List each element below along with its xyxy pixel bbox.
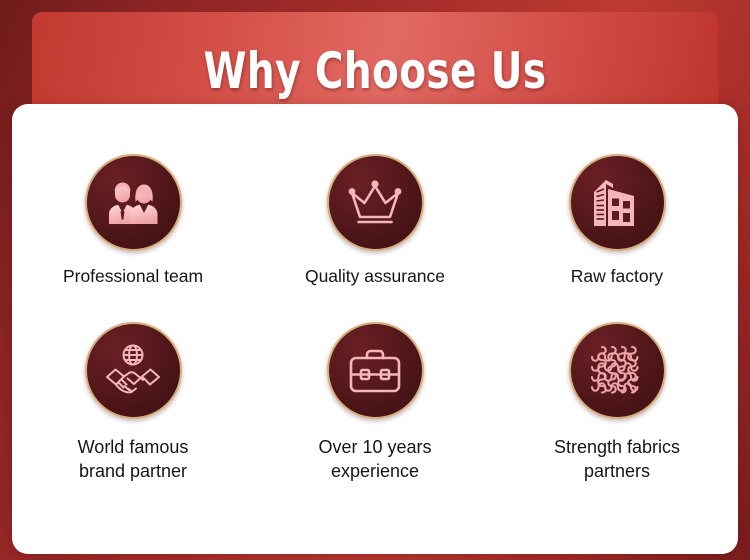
feature-item-professional-team[interactable]: Professional team <box>12 154 254 289</box>
feature-item-raw-factory[interactable]: Raw factory <box>496 154 738 289</box>
feature-label: Quality assurance <box>305 265 445 289</box>
content-card: Professional team Quality assurance <box>12 104 738 554</box>
handshake-globe-icon <box>85 322 182 419</box>
feature-label: Raw factory <box>571 265 663 289</box>
feature-grid: Professional team Quality assurance <box>12 154 738 492</box>
fabric-weave-icon <box>569 322 666 419</box>
feature-label: Professional team <box>63 265 203 289</box>
feature-item-strength-fabrics[interactable]: Strength fabrics partners <box>496 322 738 484</box>
briefcase-icon <box>327 322 424 419</box>
feature-item-experience[interactable]: Over 10 years experience <box>254 322 496 484</box>
factory-icon <box>569 154 666 251</box>
feature-label: World famous brand partner <box>78 435 189 484</box>
page-title: Why Choose Us <box>107 45 642 98</box>
page-background: Why Choose Us <box>0 0 750 560</box>
card-top-arc <box>12 104 738 128</box>
crown-icon <box>327 154 424 251</box>
feature-label: Strength fabrics partners <box>554 435 680 484</box>
feature-label: Over 10 years experience <box>318 435 431 484</box>
feature-item-quality-assurance[interactable]: Quality assurance <box>254 154 496 289</box>
people-icon <box>85 154 182 251</box>
feature-item-brand-partner[interactable]: World famous brand partner <box>12 322 254 484</box>
